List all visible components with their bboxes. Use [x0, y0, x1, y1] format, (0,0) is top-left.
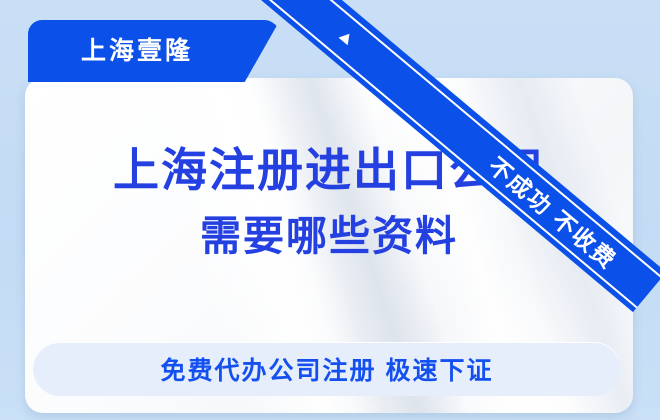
cta-pill-label: 免费代办公司注册 极速下证 — [161, 351, 494, 387]
brand-tab-label: 上海壹隆 — [28, 20, 246, 78]
triangle-up-icon — [338, 30, 354, 45]
cta-pill[interactable]: 免费代办公司注册 极速下证 — [33, 342, 621, 396]
content-card: 上海注册进出口公司 需要哪些资料 免费代办公司注册 极速下证 — [25, 78, 633, 413]
promo-banner: 上海注册进出口公司 需要哪些资料 免费代办公司注册 极速下证 上海壹隆 不成功 … — [0, 0, 660, 420]
